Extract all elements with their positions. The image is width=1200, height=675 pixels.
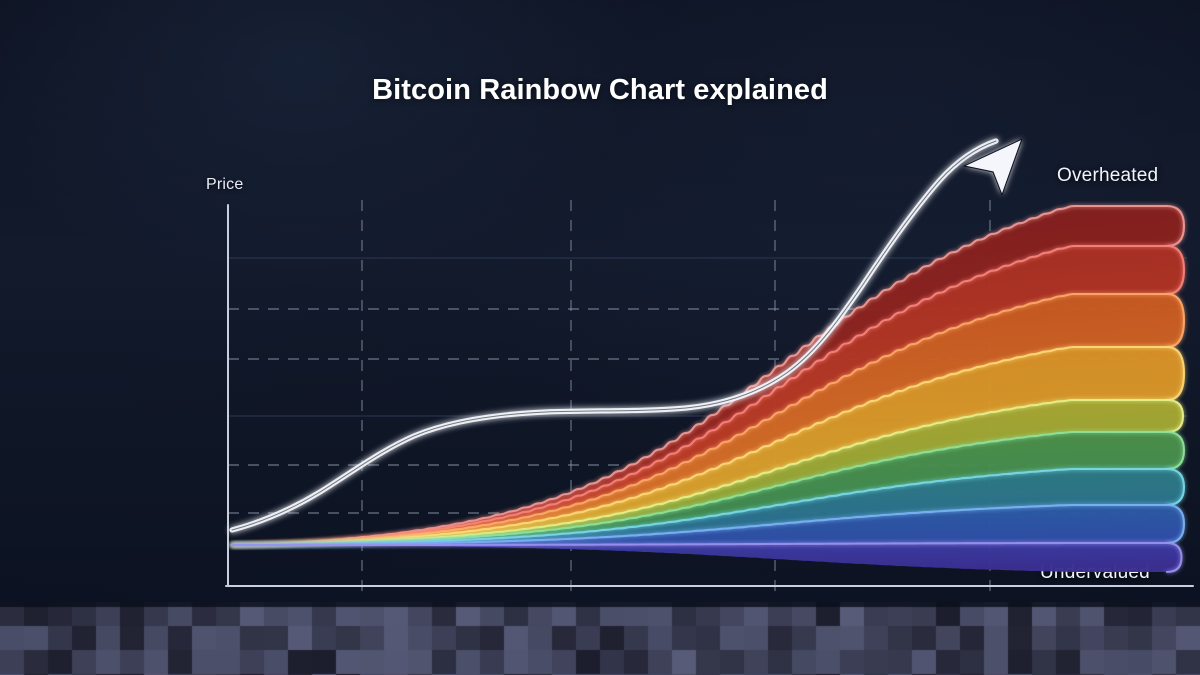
slide-canvas: Bitcoin Rainbow Chart explained Price Ti…	[0, 0, 1200, 675]
pixelated-bottom-bar	[0, 602, 1200, 675]
rainbow-bands	[232, 206, 1184, 572]
price-arrow-head	[964, 139, 1022, 195]
rainbow-chart	[0, 0, 1200, 675]
rainbow-band-undervalued	[232, 543, 1182, 572]
